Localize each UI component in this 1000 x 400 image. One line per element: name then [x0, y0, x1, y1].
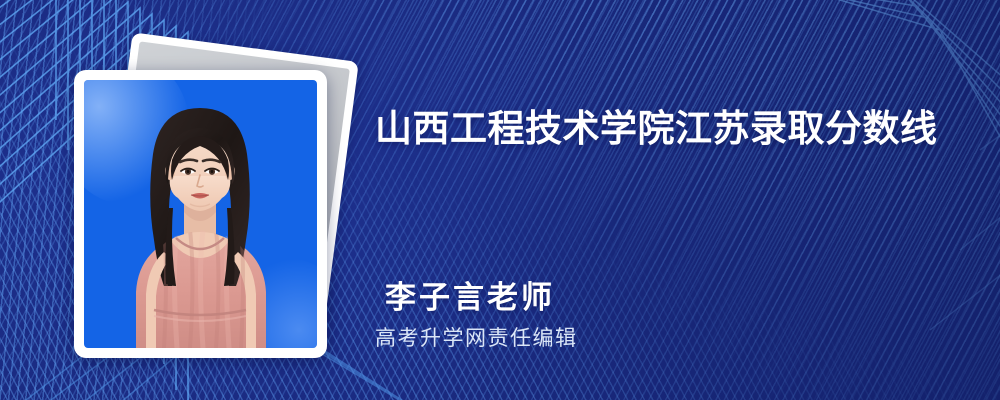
portrait-photo	[84, 80, 317, 348]
page-title: 山西工程技术学院江苏录取分数线	[375, 98, 938, 152]
portrait-illustration	[84, 80, 317, 348]
article-banner: 山西工程技术学院江苏录取分数线 李子言老师 高考升学网责任编辑	[0, 0, 1000, 400]
photo-card	[74, 70, 327, 358]
author-name: 李子言老师	[385, 272, 555, 317]
photo-card-stack	[55, 40, 355, 370]
author-byline: 高考升学网责任编辑	[375, 322, 578, 352]
